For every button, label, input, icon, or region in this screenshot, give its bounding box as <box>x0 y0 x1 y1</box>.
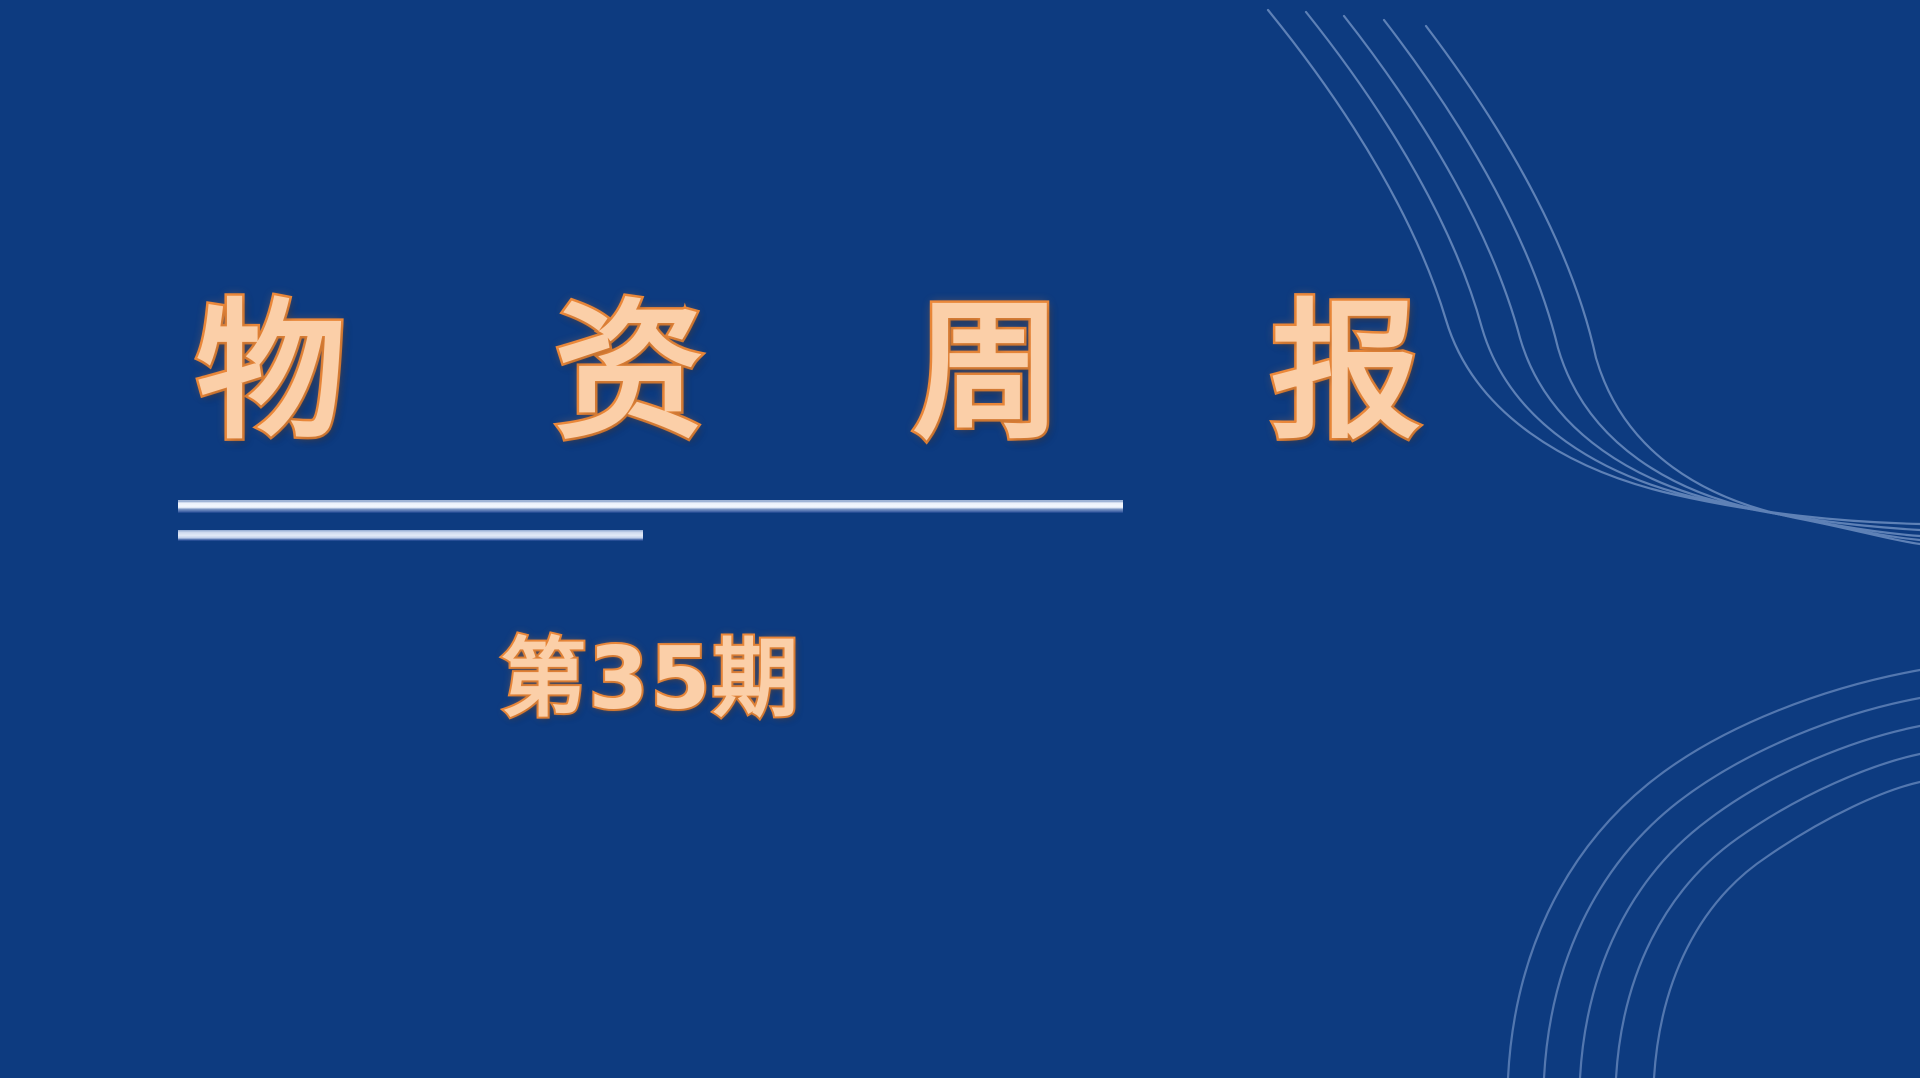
title-slide: 物 资 周 报 第35期 <box>0 0 1920 1078</box>
title-rule-short <box>178 530 643 541</box>
title-block: 物 资 周 报 <box>178 286 1178 460</box>
page-title: 物 资 周 报 <box>178 286 1178 460</box>
issue-line: 第35期 <box>178 628 1123 731</box>
title-rule-long <box>178 500 1123 513</box>
issue-number-label: 第35期 <box>501 629 801 729</box>
decorative-curves-bottom-right <box>1500 658 1920 1078</box>
